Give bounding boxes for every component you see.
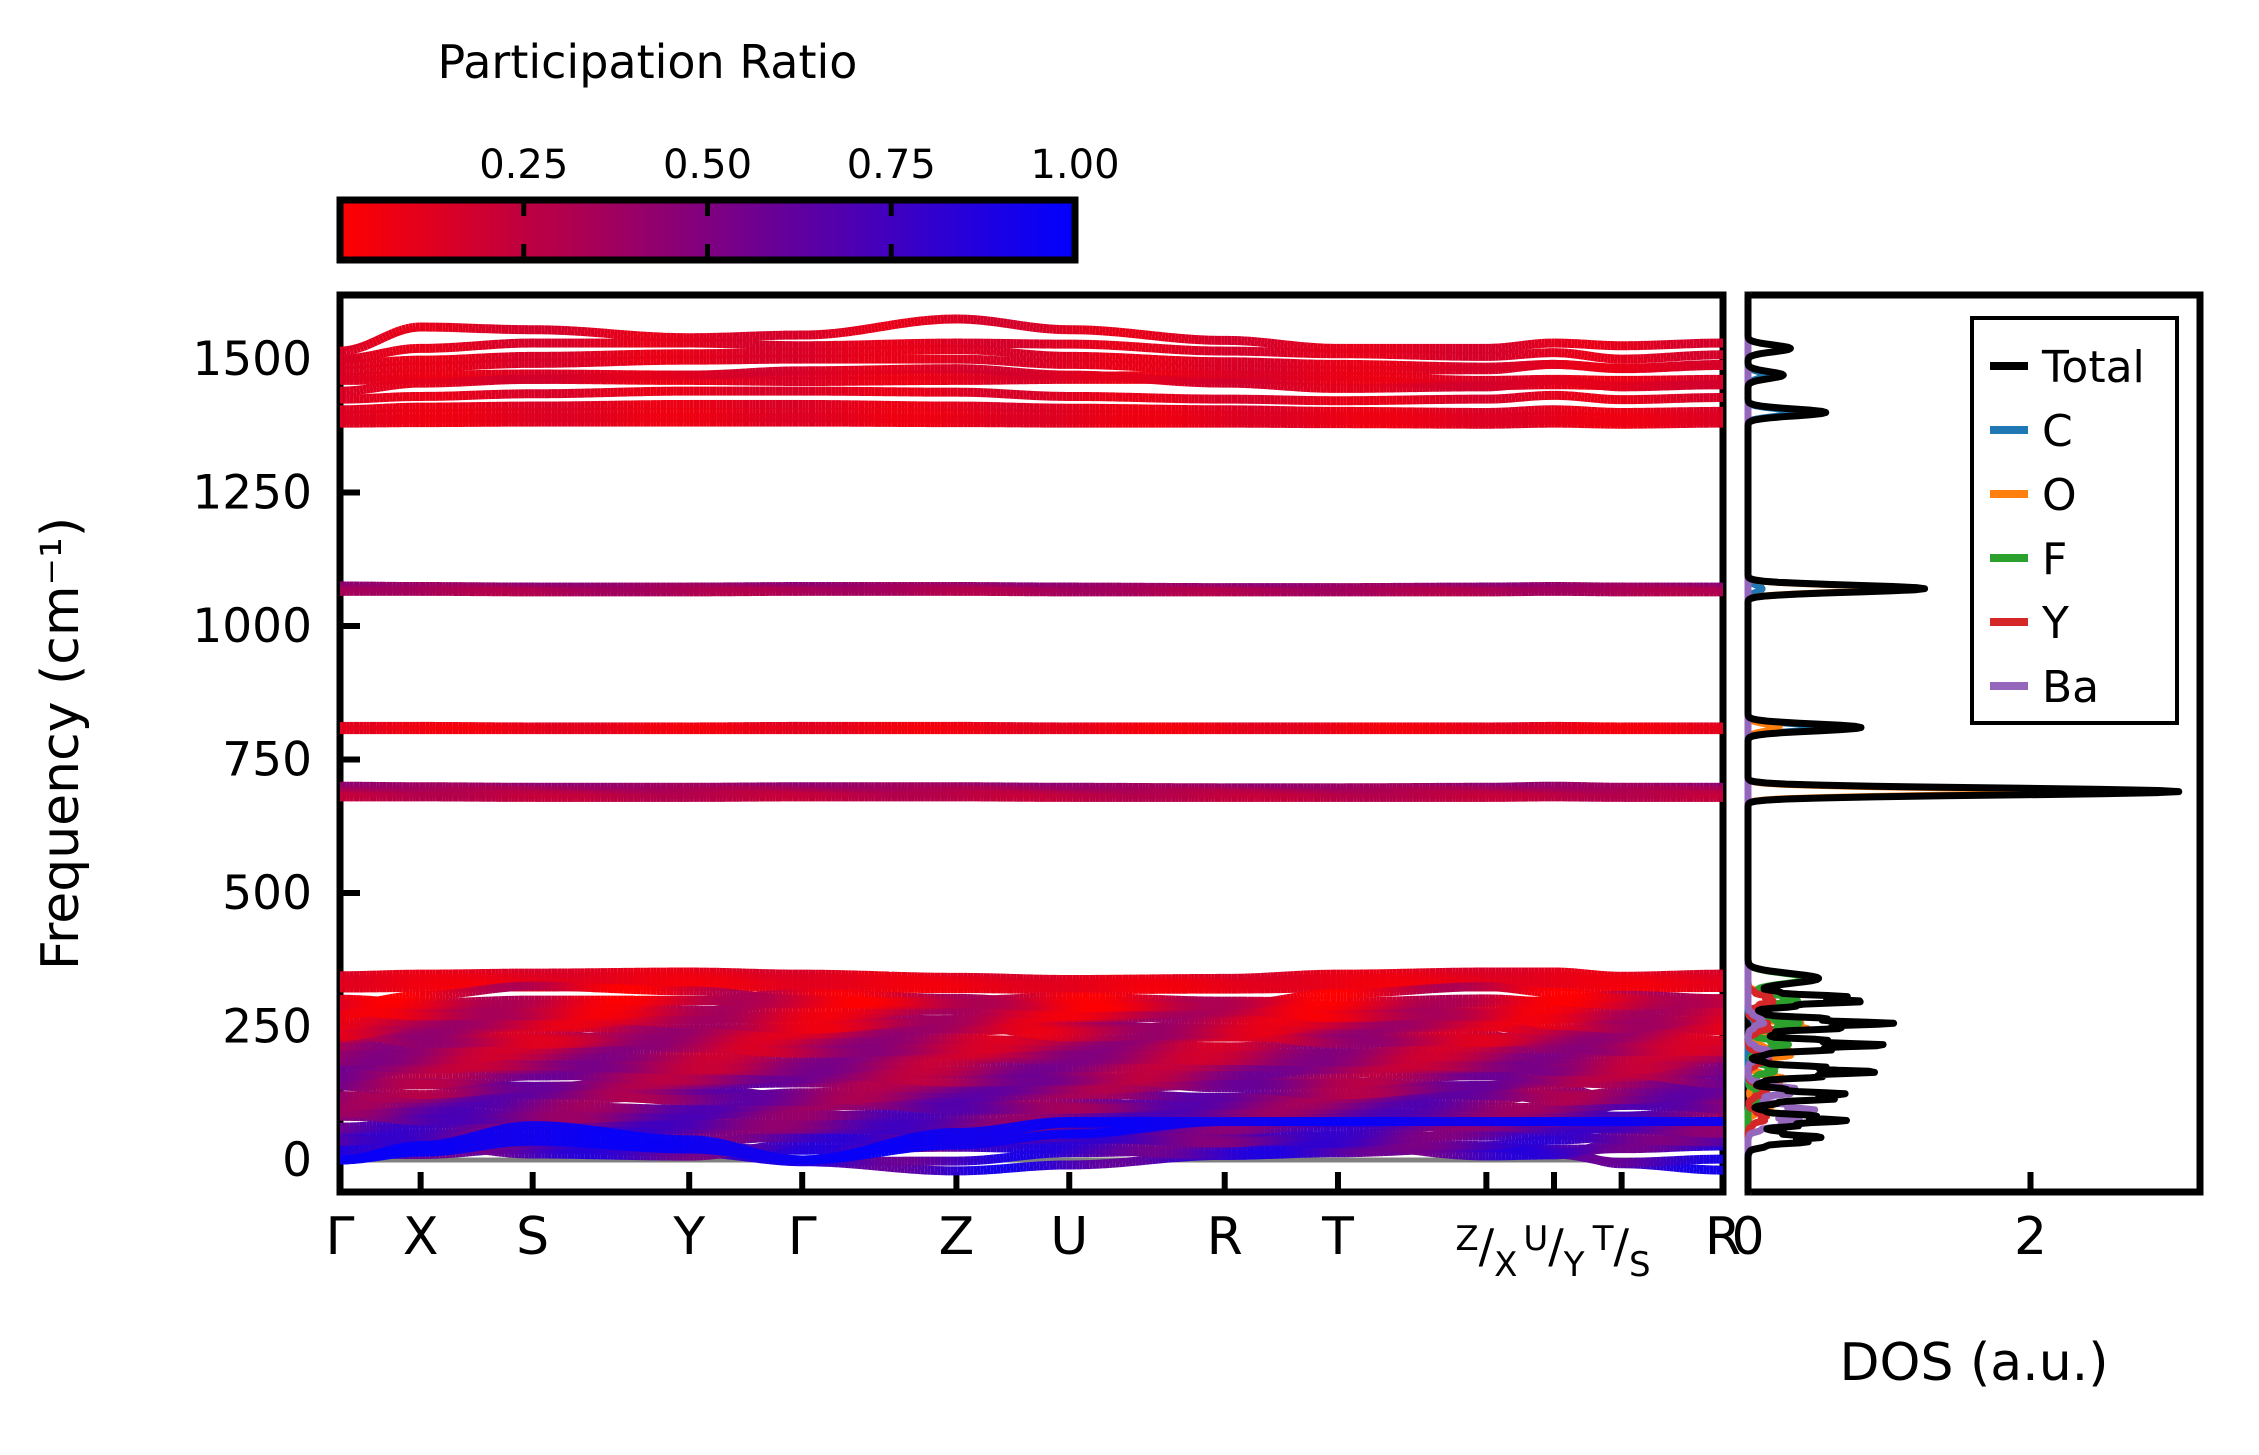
band-curve — [370, 342, 373, 343]
band-curve — [865, 329, 868, 330]
y-axis-tick-label: 750 — [222, 733, 312, 788]
band-curve — [891, 325, 894, 326]
band-curve — [380, 338, 383, 340]
y-axis-tick-label: 1500 — [192, 332, 312, 387]
band-curve — [406, 328, 409, 329]
x-axis-tick-label: T/S — [1592, 1219, 1651, 1285]
x-axis-tick-label: U/Y — [1523, 1219, 1584, 1285]
band-curve — [380, 353, 383, 354]
band-curve — [875, 327, 878, 328]
band-curve — [370, 355, 373, 356]
y-axis-tick-label: 1000 — [192, 599, 312, 654]
y-axis-tick-label: 500 — [222, 866, 312, 921]
y-axis-tick-label: 1250 — [192, 466, 312, 521]
band-curve — [376, 354, 379, 355]
colorbar-tick-label: 1.00 — [1030, 142, 1119, 188]
y-axis-label: Frequency (cm⁻¹) — [31, 517, 91, 970]
band-curve — [881, 326, 884, 327]
band-curve — [396, 331, 399, 332]
y-axis-tick-label: 0 — [282, 1133, 312, 1188]
band-curve — [386, 352, 389, 353]
band-curve — [390, 351, 393, 352]
band-curve — [390, 333, 393, 334]
x-axis-tick-label: X — [403, 1207, 439, 1267]
figure-canvas: 0.250.500.751.00Participation Ratio02505… — [0, 0, 2259, 1455]
band-curve — [393, 332, 396, 333]
y-axis-tick-label: 250 — [222, 999, 312, 1054]
band-curve — [868, 328, 871, 329]
x-axis-tick-label: Γ — [326, 1207, 355, 1267]
band-curve — [409, 328, 412, 329]
phonon-figure: 0.250.500.751.00Participation Ratio02505… — [0, 0, 2259, 1455]
band-curve — [383, 336, 386, 338]
colorbar-tick-label: 0.75 — [847, 142, 936, 188]
band-curve — [357, 348, 360, 349]
band-curve — [396, 350, 399, 351]
band-curve — [373, 341, 376, 343]
band-curve — [888, 325, 891, 326]
band-curve — [353, 349, 356, 350]
band-curve — [895, 324, 898, 325]
x-axis-tick-label: R — [1207, 1207, 1243, 1267]
band-curve — [366, 344, 369, 345]
x-axis-tick-label: U — [1050, 1207, 1088, 1267]
colorbar-tick-label: 0.50 — [663, 142, 752, 188]
x-axis-tick-label: S — [516, 1207, 549, 1267]
band-curve — [383, 353, 386, 354]
band-curve — [363, 356, 366, 357]
x-axis-tick-label: Z/X — [1455, 1219, 1517, 1285]
band-curve — [878, 327, 881, 328]
x-axis-tick-label: Z — [939, 1207, 975, 1267]
colorbar-tick-label: 0.25 — [479, 142, 568, 188]
band-curve — [862, 329, 865, 330]
x-axis-tick-label: T — [1321, 1207, 1354, 1267]
band-curve — [373, 388, 376, 389]
x-axis-tick-label: Y — [672, 1207, 705, 1267]
band-curve — [376, 387, 379, 388]
band-curve — [360, 347, 363, 348]
band-curve — [885, 326, 888, 327]
band-curve — [373, 355, 376, 356]
band-curve — [871, 328, 874, 329]
band-curve — [403, 329, 406, 330]
x-axis-tick-label: Γ — [788, 1207, 817, 1267]
band-curve — [380, 387, 383, 388]
band-curve — [350, 350, 353, 351]
band-curve — [386, 335, 389, 336]
band-curve — [363, 345, 366, 346]
band-curve — [383, 386, 386, 387]
band-curve — [360, 357, 363, 358]
band-curve — [399, 330, 402, 331]
band-curve — [393, 351, 396, 352]
band-curve — [376, 339, 379, 341]
colorbar-title: Participation Ratio — [438, 35, 858, 89]
band-curve — [366, 356, 369, 357]
